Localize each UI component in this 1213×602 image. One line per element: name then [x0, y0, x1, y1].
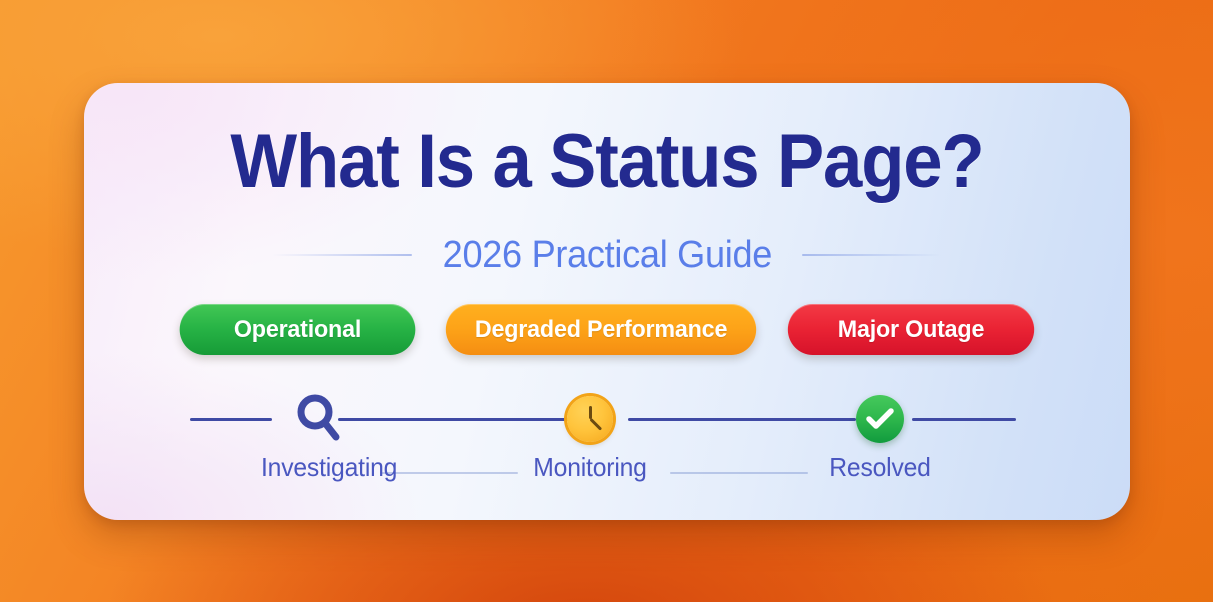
page-title: What Is a Status Page? [121, 124, 1094, 200]
check-circle-icon [820, 388, 940, 450]
clock-minute-hand [589, 418, 602, 431]
status-badge-row: Operational Degraded Performance Major O… [84, 304, 1130, 355]
poster-canvas: What Is a Status Page? 2026 Practical Gu… [0, 0, 1213, 602]
page-subtitle: 2026 Practical Guide [442, 234, 771, 277]
subtitle-rule-left [272, 254, 412, 256]
timeline-step-resolved[interactable]: Resolved [820, 388, 940, 483]
clock-icon [530, 388, 650, 450]
timeline-step-label: Monitoring [533, 452, 647, 483]
status-badge-operational[interactable]: Operational [180, 304, 416, 355]
timeline-step-monitoring[interactable]: Monitoring [530, 388, 650, 483]
clock-face [567, 396, 613, 442]
subtitle-rule-right [802, 254, 942, 256]
status-badge-major-outage[interactable]: Major Outage [787, 304, 1033, 355]
timeline-step-investigating[interactable]: Investigating [258, 388, 378, 483]
timeline-label-rule-2 [670, 472, 808, 474]
timeline-step-label: Resolved [823, 452, 937, 483]
status-page-card: What Is a Status Page? 2026 Practical Gu… [84, 83, 1130, 520]
magnifier-icon [258, 388, 378, 450]
incident-timeline: Investigating Monitoring [190, 388, 1024, 483]
check-circle-background [856, 395, 904, 443]
timeline-step-label: Investigating [261, 452, 375, 483]
timeline-label-rule-1 [380, 472, 518, 474]
clock-hour-hand [589, 406, 592, 419]
status-badge-degraded-performance[interactable]: Degraded Performance [446, 304, 757, 355]
subtitle-row: 2026 Practical Guide [84, 231, 1130, 279]
